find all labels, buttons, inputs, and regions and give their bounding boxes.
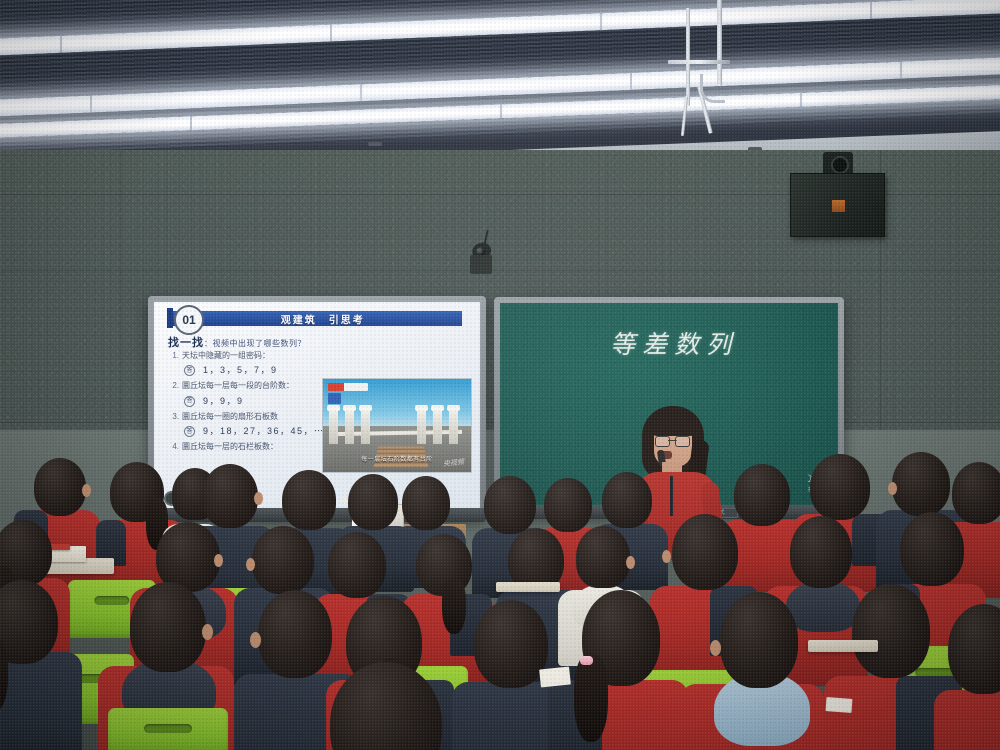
video-baluster [449, 410, 458, 444]
answer-sequence: 9，18，27，36，45，⋯ [203, 427, 325, 436]
list-item-text: 圜丘坛每一层每一段的台阶数： [182, 382, 294, 390]
answer-marker-icon: 答 [184, 365, 195, 376]
wall-speaker [790, 173, 885, 237]
slide-prompt-sub: ：视频中出现了哪些数列？ [204, 339, 306, 348]
hanging-rod-crossbar [668, 60, 730, 64]
worksheet-paper [826, 697, 853, 713]
student-chair[interactable] [108, 708, 228, 750]
video-baluster [361, 410, 370, 444]
answer-sequence: 1，3，5，7，9 [203, 366, 278, 375]
teacher-fringe [650, 412, 696, 436]
answer-sequence: 9，9，9 [203, 397, 244, 406]
hanging-rod [686, 8, 690, 106]
answer-marker-icon: 答 [184, 396, 195, 407]
ceiling-vent [368, 142, 382, 146]
list-item-answer: 答 1，3，5，7，9 [184, 365, 348, 376]
list-item: 1. 天坛中隐藏的一组密码： [170, 352, 348, 360]
list-item-text: 天坛中隐藏的一组密码： [182, 352, 270, 360]
slide-title: 观建筑 引思考 [281, 311, 365, 326]
video-baluster [329, 410, 338, 444]
slide-title-bar: 观建筑 引思考 [170, 311, 462, 326]
answer-marker-icon: 答 [184, 426, 195, 437]
wall-camera [470, 255, 492, 274]
video-baluster [433, 410, 442, 444]
video-channel-logo [328, 383, 368, 391]
video-channel-badge [328, 393, 341, 404]
speaker-led-icon [832, 200, 845, 212]
student-desk [808, 640, 878, 652]
video-baluster [345, 410, 354, 444]
student-seating-area [0, 440, 1000, 750]
chalkboard-text: 等差数列 [610, 325, 738, 361]
worksheet-paper [539, 666, 571, 687]
hanging-hook-icon [700, 74, 725, 103]
slide-badge: 01 [174, 305, 204, 335]
slide-badge-bracket [167, 308, 173, 328]
slide-prompt-main: 找一找 [168, 337, 204, 349]
list-item-number: 1. [170, 352, 179, 360]
speaker-bracket [823, 152, 853, 174]
video-baluster [417, 410, 426, 444]
list-item-number: 2. [170, 382, 179, 390]
student-desk [496, 582, 560, 592]
slide-prompt: 找一找：视频中出现了哪些数列？ [168, 334, 306, 350]
list-item-number: 3. [170, 413, 179, 421]
classroom-photo-scene: 观建筑 引思考 01 找一找：视频中出现了哪些数列？ 1. 天坛中隐藏的一组密码… [0, 0, 1000, 750]
list-item-text: 圜丘坛每一圈的扇形石板数 [182, 413, 278, 421]
hair-tie [580, 656, 593, 665]
